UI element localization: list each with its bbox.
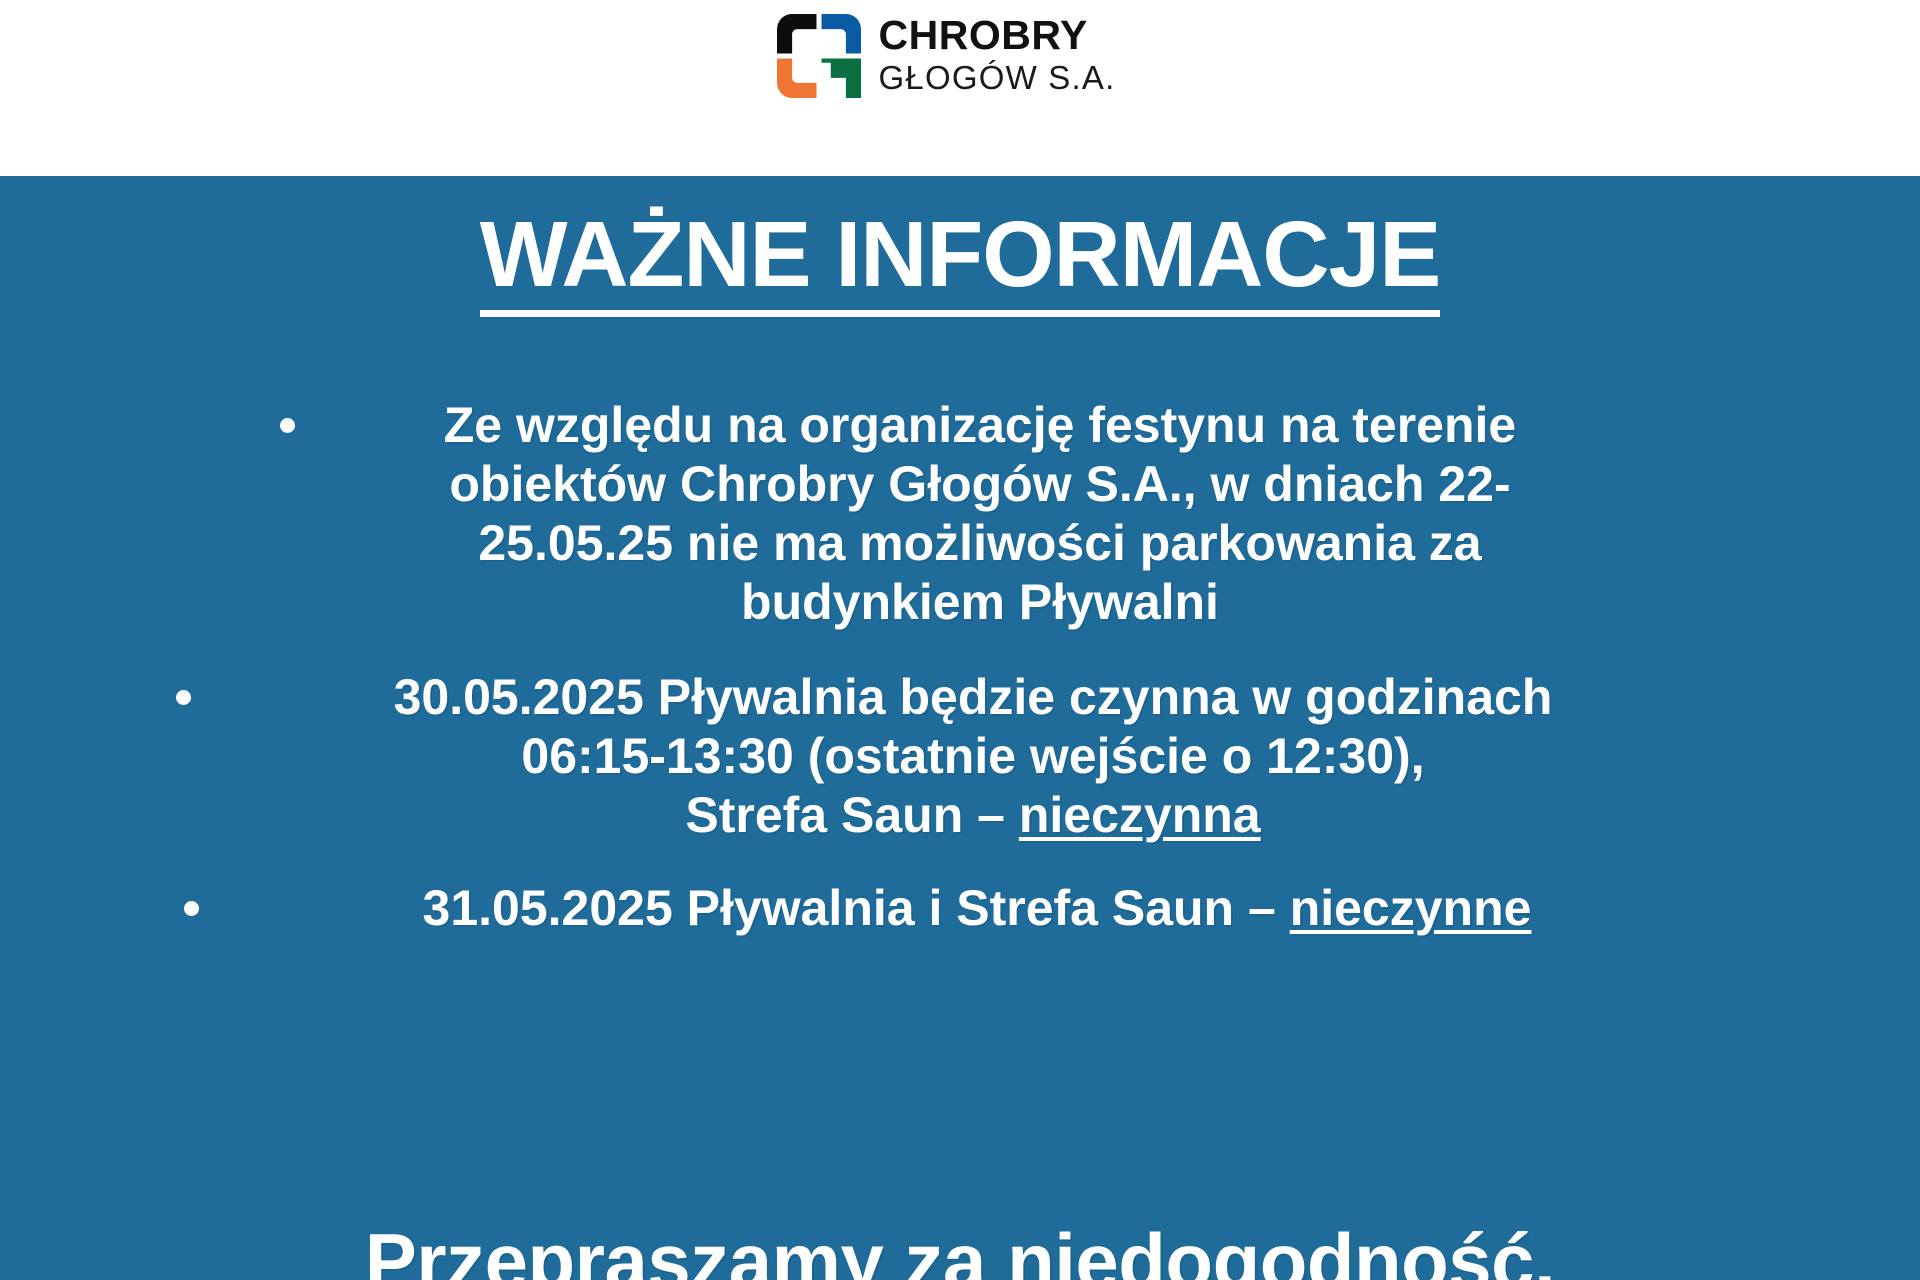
notice-emphasis: nieczynne: [1290, 880, 1532, 936]
notice-line-1: 30.05.2025 Pływalnia będzie czynna w god…: [394, 669, 1553, 725]
notice-text: 31.05.2025 Pływalnia i Strefa Saun – nie…: [150, 879, 1770, 938]
chrobry-logo-mark-icon: [777, 14, 861, 98]
page-title-text: WAŻNE INFORMACJE: [480, 208, 1441, 301]
notice-item-31-05: 31.05.2025 Pływalnia i Strefa Saun – nie…: [150, 879, 1770, 938]
notice-item-parking: Ze względu na organizację festynu na ter…: [250, 396, 1670, 632]
announcement-poster: CHROBRY GŁOGÓW S.A. WAŻNE INFORMACJE Ze …: [0, 0, 1920, 1280]
bullet-icon: [280, 418, 295, 433]
notice-prefix: 31.05.2025 Pływalnia i Strefa Saun –: [423, 880, 1290, 936]
notice-list: Ze względu na organizację festynu na ter…: [0, 396, 1920, 938]
notice-item-30-05: 30.05.2025 Pływalnia będzie czynna w god…: [150, 668, 1770, 845]
poster-header: CHROBRY GŁOGÓW S.A.: [0, 0, 1920, 176]
notice-line-2: 06:15-13:30 (ostatnie wejście o 12:30),: [521, 728, 1424, 784]
brand-wordmark: CHROBRY GŁOGÓW S.A.: [879, 15, 1116, 97]
brand-subtitle: GŁOGÓW S.A.: [879, 60, 1116, 97]
apology-text: Przepraszamy za niedogodność.: [0, 1221, 1920, 1280]
brand-name: CHROBRY: [879, 15, 1116, 57]
page-title: WAŻNE INFORMACJE: [0, 176, 1920, 301]
notice-line-3-prefix: Strefa Saun –: [685, 787, 1018, 843]
notice-text: Ze względu na organizację festynu na ter…: [250, 396, 1670, 632]
notice-line-3-emphasis: nieczynna: [1019, 787, 1261, 843]
bullet-icon: [184, 901, 199, 916]
notice-text: 30.05.2025 Pływalnia będzie czynna w god…: [150, 668, 1770, 845]
brand-logo-lockup: CHROBRY GŁOGÓW S.A.: [777, 14, 1116, 98]
poster-body: WAŻNE INFORMACJE Ze względu na organizac…: [0, 176, 1920, 1280]
bullet-icon: [176, 690, 191, 705]
